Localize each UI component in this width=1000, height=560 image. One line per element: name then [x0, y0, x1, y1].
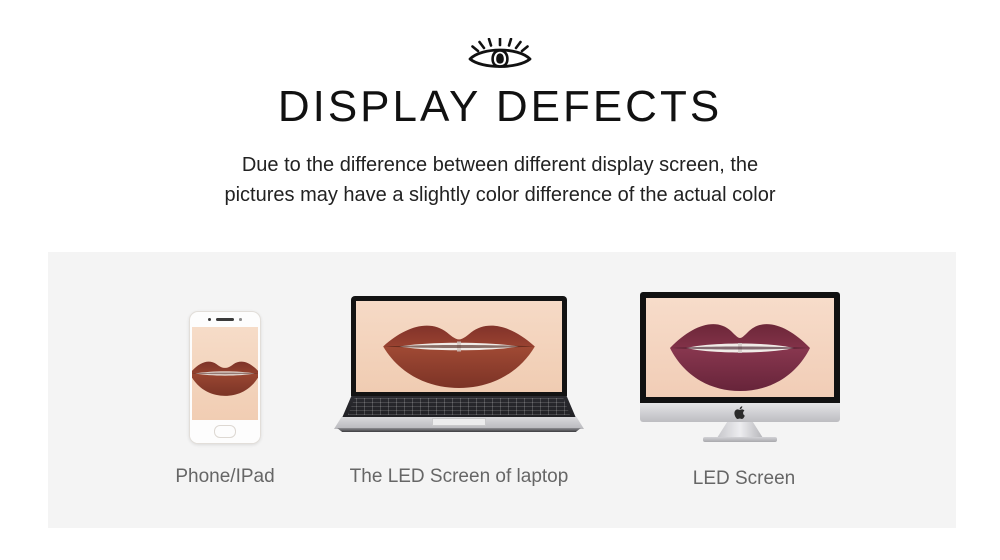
phone-earpiece-row: [190, 312, 260, 327]
monitor-stand-base: [703, 437, 777, 442]
eye-icon: [464, 38, 536, 70]
phone-body: [189, 311, 261, 444]
laptop-base: [328, 396, 590, 432]
front-camera-icon: [208, 318, 211, 321]
device-laptop: [328, 296, 590, 432]
monitor-bezel: [640, 292, 840, 403]
earpiece-speaker-icon: [216, 318, 234, 321]
device-phone: [189, 311, 261, 444]
laptop-lid: [351, 296, 567, 396]
devices-panel: Phone/IPad: [48, 252, 956, 528]
trackpad[interactable]: [432, 418, 486, 426]
home-button[interactable]: [214, 425, 236, 438]
page-subtitle: Due to the difference between different …: [160, 150, 840, 210]
device-label-laptop: The LED Screen of laptop: [296, 466, 622, 488]
phone-chin: [190, 420, 260, 443]
keyboard-keys[interactable]: [348, 398, 570, 415]
laptop-front-edge: [332, 428, 586, 432]
monitor-stand-neck: [717, 422, 763, 438]
laptop-screen: [356, 301, 562, 392]
apple-logo-icon: [734, 405, 747, 420]
device-label-phone: Phone/IPad: [148, 466, 302, 488]
subtitle-line-1: Due to the difference between different …: [160, 150, 840, 180]
subtitle-line-2: pictures may have a slightly color diffe…: [160, 180, 840, 210]
device-label-monitor: LED Screen: [668, 468, 820, 490]
monitor-chin: [640, 403, 840, 422]
page-title: DISPLAY DEFECTS: [0, 82, 1000, 132]
phone-screen: [192, 327, 258, 420]
proximity-sensor-icon: [239, 318, 242, 321]
monitor-screen: [646, 298, 834, 397]
device-monitor: [640, 292, 840, 444]
